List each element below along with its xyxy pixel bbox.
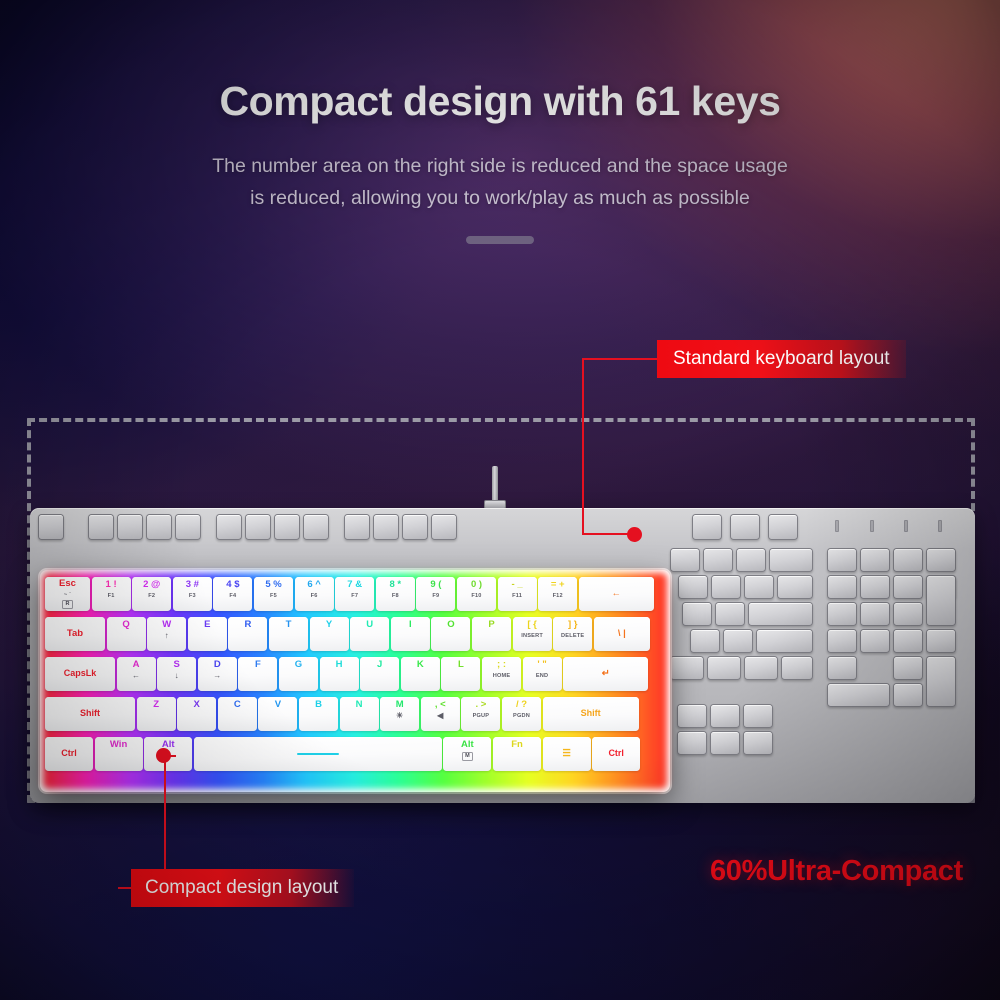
leader-line-standard-v (582, 358, 584, 534)
key-label: Y (326, 620, 332, 630)
key-label: 1 ! (106, 580, 117, 590)
key-i-r2c9[interactable]: I (391, 617, 430, 651)
key-label: ' " (537, 660, 546, 670)
key-sublabel: ↓ (175, 671, 179, 680)
key-sublabel: PGDN (513, 713, 530, 719)
key-label: Ctrl (608, 749, 624, 758)
key-shift-r4c12[interactable]: Shift (543, 697, 639, 731)
fullsize-numpad-key (827, 602, 857, 626)
callout-standard-label: Standard keyboard layout (673, 348, 890, 370)
fullsize-fkey-12 (431, 514, 457, 540)
key-u-r2c8[interactable]: U (350, 617, 389, 651)
key-sublabel: F9 (432, 593, 439, 599)
key-2-r1c3[interactable]: 2 @F2 (132, 577, 171, 611)
key-label: R (244, 620, 251, 630)
key-sublabel: DELETE (561, 633, 584, 639)
key-label: H (336, 660, 343, 670)
fullsize-numpad-enter (926, 656, 956, 707)
key-sublabel: F10 (471, 593, 481, 599)
key-8-r1c9[interactable]: 8 *F8 (376, 577, 415, 611)
key-7-r1c8[interactable]: 7 &F7 (335, 577, 374, 611)
key-q-r2c2[interactable]: Q (107, 617, 146, 651)
page-title: Compact design with 61 keys (0, 78, 1000, 125)
subtitle-line-1: The number area on the right side is red… (0, 151, 1000, 183)
fullsize-key (678, 575, 708, 599)
fullsize-numpad-zero (827, 683, 890, 707)
fullsize-fkey-10 (373, 514, 399, 540)
key-o-r2c10[interactable]: O (431, 617, 470, 651)
key-shift-r4c1[interactable]: Shift (45, 697, 135, 731)
fullsize-numpad-key (827, 548, 857, 572)
fullsize-numpad-plus (926, 575, 956, 626)
fullsize-numpad-key (893, 575, 923, 599)
key-label: N (356, 700, 363, 710)
fullsize-key (715, 602, 745, 626)
key-alt-r5c5[interactable]: AltM (443, 737, 491, 771)
key-0-r1c11[interactable]: 0 )F10 (457, 577, 496, 611)
indicator-led-4 (938, 520, 942, 532)
key-key-r4c11[interactable]: / ?PGDN (502, 697, 541, 731)
key-label: P (488, 620, 494, 630)
fullsize-key (744, 656, 778, 680)
fullsize-numpad-key (893, 548, 923, 572)
key-key-r2c13[interactable]: ] }DELETE (553, 617, 592, 651)
fullsize-numpad-key (860, 602, 890, 626)
fullsize-fkey-4 (175, 514, 201, 540)
fullsize-fkey-5 (216, 514, 242, 540)
key-label: 2 @ (143, 580, 160, 590)
fullsize-key (723, 629, 753, 653)
fullsize-key (711, 575, 741, 599)
keyboard-row-2: TabQW↑ERTYUIOP[ {INSERT] }DELETE\ | (45, 615, 665, 653)
key-label: O (447, 620, 454, 630)
key-key-r3c11[interactable]: ; :HOME (482, 657, 521, 691)
key-sublabel: PGUP (473, 713, 490, 719)
fullsize-numpad-key (827, 575, 857, 599)
key-ctrl-r5c1[interactable]: Ctrl (45, 737, 93, 771)
key-label: 6 ^ (307, 580, 320, 590)
key-5-r1c6[interactable]: 5 %F5 (254, 577, 293, 611)
key-capslk-r3c1[interactable]: CapsLk (45, 657, 115, 691)
key-label: . > (475, 700, 486, 710)
key-label: E (204, 620, 210, 630)
key-label: K (417, 660, 424, 670)
indicator-led-1 (835, 520, 839, 532)
fullsize-fkey-8 (303, 514, 329, 540)
callout-compact-label: Compact design layout (145, 877, 338, 899)
key-1-r1c2[interactable]: 1 !F1 (92, 577, 131, 611)
fullsize-numpad-key (893, 602, 923, 626)
key-sublabel: END (536, 673, 548, 679)
fullsize-key (703, 548, 733, 572)
keyboard-row-5: CtrlWinAltAltMFn☰Ctrl (45, 735, 665, 773)
key-label: 5 % (265, 580, 281, 590)
key-key-r2c14[interactable]: \ | (594, 617, 650, 651)
fullsize-numpad-key (860, 575, 890, 599)
fullsize-key (690, 629, 720, 653)
callout-standard-keyboard-layout: Standard keyboard layout (657, 340, 906, 378)
key-tab-r2c1[interactable]: Tab (45, 617, 105, 651)
key-label: 8 * (389, 580, 401, 590)
key-label: 0 ) (471, 580, 482, 590)
key-sublabel: ← (132, 671, 140, 680)
key-sublabel: F5 (270, 593, 277, 599)
key-t-r2c6[interactable]: T (269, 617, 308, 651)
key-label: ; : (497, 660, 506, 670)
key-sublabel: F6 (311, 593, 318, 599)
fullsize-key (682, 602, 712, 626)
fullsize-key (677, 704, 707, 728)
key-l-r3c10[interactable]: L (441, 657, 480, 691)
anchor-dot-compact (156, 748, 171, 763)
key-label: A (133, 660, 140, 670)
key-sublabel: F4 (229, 593, 236, 599)
fullsize-fkey-6 (245, 514, 271, 540)
key-boxed-legend: M (462, 752, 474, 761)
key-m-r4c8[interactable]: M☀ (380, 697, 419, 731)
key-6-r1c7[interactable]: 6 ^F6 (295, 577, 334, 611)
key-label: C (234, 700, 241, 710)
fullsize-fkey-2 (117, 514, 143, 540)
key-label: ← (612, 589, 622, 599)
key-label: , < (435, 700, 446, 710)
fullsize-fkey-11 (402, 514, 428, 540)
fullsize-key (743, 704, 773, 728)
key-sublabel: ☀ (396, 711, 403, 720)
fullsize-key (670, 656, 704, 680)
key-4-r1c5[interactable]: 4 $F4 (213, 577, 252, 611)
key-k-r3c9[interactable]: K (401, 657, 440, 691)
key-label: [ { (527, 620, 537, 630)
key-label: Tab (67, 629, 83, 639)
fullsize-key (756, 629, 813, 653)
anchor-dot-standard (627, 527, 642, 542)
key-key-r4c9[interactable]: , <◀ (421, 697, 460, 731)
key-a-r3c2[interactable]: A← (117, 657, 156, 691)
key-label: ] } (568, 620, 578, 630)
fullsize-numpad-key (926, 548, 956, 572)
key-sublabel: F8 (392, 593, 399, 599)
keyboard-row-3: CapsLkA←S↓D→FGHJKL; :HOME' "END↵ (45, 655, 665, 693)
key-esc-r1c1[interactable]: Esc~ `R (45, 577, 90, 611)
key-sublabel: F12 (553, 593, 563, 599)
key-sublabel: F2 (148, 593, 155, 599)
fullsize-key (781, 656, 813, 680)
fullsize-fkey-3 (146, 514, 172, 540)
fullsize-key (769, 548, 813, 572)
key-p-r2c11[interactable]: P (472, 617, 511, 651)
key-label: Shift (581, 709, 601, 718)
key-label: Win (110, 740, 127, 750)
key-f-r3c5[interactable]: F (238, 657, 277, 691)
fullsize-fkey-0 (38, 514, 64, 540)
fullsize-arrow-right (743, 731, 773, 755)
fullsize-key (736, 548, 766, 572)
key-label: W (162, 620, 171, 630)
key-n-r4c7[interactable]: N (340, 697, 379, 731)
key-sublabel: → (213, 671, 221, 680)
key-z-r4c2[interactable]: Z (137, 697, 176, 731)
key-fn-r5c6[interactable]: Fn (493, 737, 541, 771)
key-key-r4c10[interactable]: . >PGUP (461, 697, 500, 731)
fullsize-numpad-dot (893, 683, 923, 707)
keyboard-row-1: Esc~ `R1 !F12 @F23 #F34 $F45 %F56 ^F67 &… (45, 575, 665, 613)
key-label: Ctrl (61, 749, 77, 758)
key-label: S (174, 660, 180, 670)
key-space-r5c4[interactable] (194, 737, 442, 771)
fullsize-fkey-7 (274, 514, 300, 540)
key-key-r5c7[interactable]: ☰ (543, 737, 591, 771)
fullsize-topright-1 (730, 514, 760, 540)
fullsize-fkey-9 (344, 514, 370, 540)
key-c-r4c4[interactable]: C (218, 697, 257, 731)
key-sublabel: ◀ (437, 711, 443, 720)
key-label: L (458, 660, 464, 670)
key-label: M (396, 700, 404, 710)
key-sublabel: INSERT (521, 633, 543, 639)
fullsize-numpad-key (893, 629, 923, 653)
indicator-led-2 (870, 520, 874, 532)
callout-compact-design-layout: Compact design layout (131, 869, 354, 907)
key-e-r2c4[interactable]: E (188, 617, 227, 651)
key-v-r4c5[interactable]: V (258, 697, 297, 731)
fullsize-arrow-up (710, 704, 740, 728)
fullsize-topright-0 (692, 514, 722, 540)
key-label: Esc (59, 579, 76, 589)
key-label: CapsLk (64, 669, 97, 678)
subtitle: The number area on the right side is red… (0, 151, 1000, 214)
keycap-grid: Esc~ `R1 !F12 @F23 #F34 $F45 %F56 ^F67 &… (45, 575, 665, 787)
key-label: 7 & (347, 580, 362, 590)
section-divider (466, 236, 534, 244)
key-label: Alt (461, 740, 474, 750)
compact-61-key-keyboard: Esc~ `R1 !F12 @F23 #F34 $F45 %F56 ^F67 &… (40, 570, 670, 792)
keyboard-row-4: ShiftZXCVBNM☀, <◀. >PGUP/ ?PGDNShift (45, 695, 665, 733)
key-sublabel: F11 (512, 593, 522, 599)
key-label: V (275, 700, 281, 710)
fullsize-numpad-key (827, 629, 857, 653)
key-boxed-legend: R (62, 600, 73, 609)
key-key-r3c12[interactable]: ' "END (523, 657, 562, 691)
key-label: B (315, 700, 322, 710)
key-label: / ? (516, 700, 527, 710)
key-label: ☰ (562, 749, 571, 759)
fullsize-key (748, 602, 813, 626)
key-sublabel: ~ ` (64, 592, 71, 598)
key-key-r1c12[interactable]: - _F11 (498, 577, 537, 611)
key-label: G (295, 660, 302, 670)
fullsize-numpad-key (926, 629, 956, 653)
key-y-r2c7[interactable]: Y (310, 617, 349, 651)
ultra-compact-badge: 60%Ultra-Compact (710, 855, 963, 888)
key-label: F (255, 660, 261, 670)
fullsize-fkey-1 (88, 514, 114, 540)
fullsize-key (744, 575, 774, 599)
key-label: Q (122, 620, 129, 630)
key-label: I (409, 620, 412, 630)
fullsize-key (670, 548, 700, 572)
fullsize-arrow-left (677, 731, 707, 755)
key-win-r5c2[interactable]: Win (95, 737, 143, 771)
subtitle-line-2: is reduced, allowing you to work/play as… (0, 183, 1000, 215)
fullsize-arrow-down (710, 731, 740, 755)
key-label: = + (551, 580, 565, 590)
key-key-r1c14[interactable]: ← (579, 577, 654, 611)
key-key-r2c12[interactable]: [ {INSERT (513, 617, 552, 651)
fullsize-key (707, 656, 741, 680)
key-3-r1c4[interactable]: 3 #F3 (173, 577, 212, 611)
key-label: 9 ( (430, 580, 441, 590)
key-sublabel: ↑ (165, 631, 169, 640)
fullsize-numpad-key (860, 548, 890, 572)
key-label: J (377, 660, 382, 670)
key-j-r3c8[interactable]: J (360, 657, 399, 691)
key-sublabel: F7 (351, 593, 358, 599)
fullsize-key (777, 575, 813, 599)
fullsize-topright-2 (768, 514, 798, 540)
key-s-r3c3[interactable]: S↓ (157, 657, 196, 691)
key-9-r1c10[interactable]: 9 (F9 (416, 577, 455, 611)
leader-line-standard-h1 (582, 358, 660, 360)
product-banner: Compact design with 61 keys The number a… (0, 0, 1000, 1000)
fullsize-numpad-key (827, 656, 857, 680)
key-ctrl-r5c8[interactable]: Ctrl (592, 737, 640, 771)
key-sublabel: HOME (493, 673, 511, 679)
key-label: T (286, 620, 292, 630)
key-w-r2c3[interactable]: W↑ (147, 617, 186, 651)
key-key-r1c13[interactable]: = +F12 (538, 577, 577, 611)
key-sublabel: F1 (108, 593, 115, 599)
key-label: 4 $ (226, 580, 239, 590)
key-label: - _ (512, 580, 523, 590)
key-label: Fn (511, 740, 523, 750)
key-b-r4c6[interactable]: B (299, 697, 338, 731)
key-label: U (366, 620, 373, 630)
key-g-r3c6[interactable]: G (279, 657, 318, 691)
key-x-r4c3[interactable]: X (177, 697, 216, 731)
spacebar-indicator (297, 753, 339, 756)
key-label: X (194, 700, 200, 710)
key-d-r3c4[interactable]: D→ (198, 657, 237, 691)
key-label: Z (153, 700, 159, 710)
key-r-r2c5[interactable]: R (228, 617, 267, 651)
key-label: \ | (618, 629, 626, 639)
fullsize-numpad-key (893, 656, 923, 680)
key-key-r3c13[interactable]: ↵ (563, 657, 648, 691)
key-label: Shift (80, 709, 100, 718)
header: Compact design with 61 keys The number a… (0, 78, 1000, 244)
indicator-led-3 (904, 520, 908, 532)
key-sublabel: F3 (189, 593, 196, 599)
key-h-r3c7[interactable]: H (320, 657, 359, 691)
fullsize-numpad-key (860, 629, 890, 653)
key-label: D (214, 660, 221, 670)
key-label: 3 # (186, 580, 199, 590)
key-label: ↵ (602, 669, 610, 679)
